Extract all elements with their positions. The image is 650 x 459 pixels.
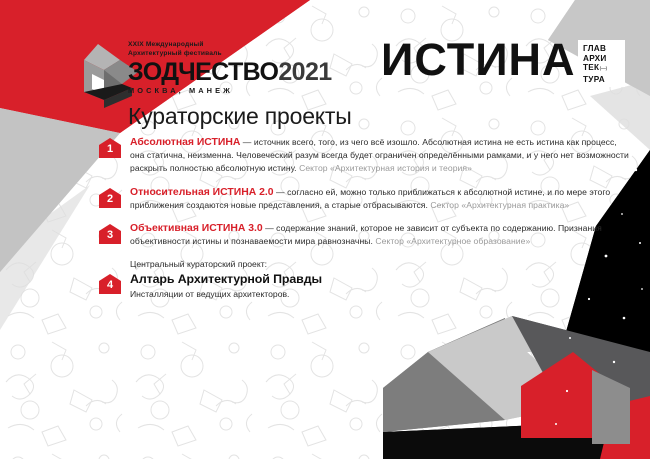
festival-name-wrap: ЗОДЧЕСТВО2021 bbox=[128, 59, 328, 85]
festival-city: МОСКВА, МАНЕЖ bbox=[128, 86, 328, 95]
logo-arrow-icon: ⟨—⟩ bbox=[599, 66, 606, 72]
logo-line-3: ТЕК⟨—⟩ bbox=[583, 63, 622, 75]
list-item-body: Абсолютная ИСТИНА — источник всего, того… bbox=[130, 136, 629, 176]
list-item-body: Относительная ИСТИНА 2.0 — согласно ей, … bbox=[130, 186, 629, 212]
logo-line-4: ТУРА bbox=[583, 75, 622, 85]
festival-line-1: XXIX Международный bbox=[128, 40, 328, 49]
badge-number: 3 bbox=[99, 228, 121, 243]
number-badge-2: 2 bbox=[99, 188, 121, 210]
list-item: 2 Относительная ИСТИНА 2.0 — согласно ей… bbox=[99, 186, 629, 212]
slide-canvas: XXIX Международный Архитектурный фестива… bbox=[0, 0, 650, 459]
list-item-sector: Сектор «Архитектурная история и теория» bbox=[299, 163, 472, 173]
badge-number: 2 bbox=[99, 192, 121, 207]
list-item-lead: Объективная ИСТИНА 3.0 bbox=[130, 223, 263, 234]
list-item-lead: Абсолютная ИСТИНА bbox=[130, 137, 240, 148]
festival-year: 2021 bbox=[278, 58, 331, 86]
theme-title: ИСТИНА bbox=[381, 36, 576, 84]
badge-number: 1 bbox=[99, 142, 121, 157]
logo-line-1: ГЛАВ bbox=[583, 44, 622, 54]
logo-line-2: АРХИ bbox=[583, 54, 622, 64]
list-item-body: Объективная ИСТИНА 3.0 — содержание знан… bbox=[130, 222, 629, 248]
festival-name: ЗОДЧЕСТВО bbox=[128, 58, 278, 86]
logo-line-3-text: ТЕК bbox=[583, 63, 599, 72]
list-item-paragraph: Абсолютная ИСТИНА — источник всего, того… bbox=[130, 136, 629, 176]
central-project-kicker: Центральный кураторский проект: bbox=[130, 258, 629, 271]
number-badge-3: 3 bbox=[99, 224, 121, 246]
list-item-paragraph: Объективная ИСТИНА 3.0 — содержание знан… bbox=[130, 222, 629, 248]
list-item-sector: Сектор «Архитектурное образование» bbox=[375, 236, 530, 246]
list-item: 1 Абсолютная ИСТИНА — источник всего, то… bbox=[99, 136, 629, 176]
list-item-paragraph: Относительная ИСТИНА 2.0 — согласно ей, … bbox=[130, 186, 629, 212]
curator-projects-list: 1 Абсолютная ИСТИНА — источник всего, то… bbox=[99, 136, 629, 311]
central-project-subtitle: Инсталляции от ведущих архитекторов. bbox=[130, 288, 629, 301]
central-project-title: Алтарь Архитектурной Правды bbox=[130, 271, 629, 288]
page-title: Кураторские проекты bbox=[128, 103, 352, 130]
glavarhitektura-logo[interactable]: ГЛАВ АРХИ ТЕК⟨—⟩ ТУРА bbox=[578, 40, 625, 87]
number-badge-1: 1 bbox=[99, 138, 121, 160]
central-project-body: Центральный кураторский проект: Алтарь А… bbox=[130, 258, 629, 301]
slide-header: XXIX Международный Архитектурный фестива… bbox=[0, 0, 650, 110]
list-item-sector: Сектор «Архитектурная практика» bbox=[430, 200, 569, 210]
festival-line-2: Архитектурный фестиваль bbox=[128, 49, 328, 58]
festival-branding: XXIX Международный Архитектурный фестива… bbox=[128, 40, 328, 95]
list-item-lead: Относительная ИСТИНА 2.0 bbox=[130, 187, 274, 198]
list-item: 3 Объективная ИСТИНА 3.0 — содержание зн… bbox=[99, 222, 629, 248]
central-project-item: 4 Центральный кураторский проект: Алтарь… bbox=[99, 258, 629, 301]
badge-number: 4 bbox=[99, 278, 121, 293]
number-badge-4: 4 bbox=[99, 274, 121, 296]
